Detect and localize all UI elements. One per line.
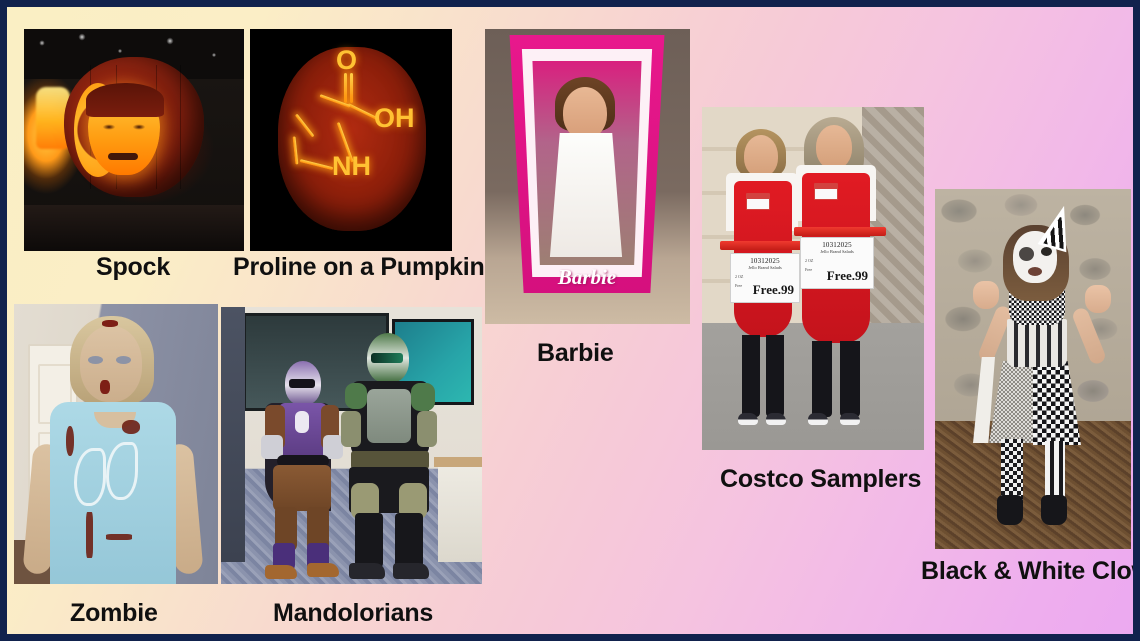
price-sign-left: 10312025 Jello Brand Salads 2 OZ Free Fr…	[730, 253, 800, 303]
sign-subtitle: Jello Brand Salads	[801, 249, 873, 254]
photo-card-clown[interactable]: Black & White Clown	[7, 7, 203, 367]
blood-stain	[122, 420, 140, 434]
sign-line1: 2 OZ	[735, 274, 799, 279]
caption-barbie: Barbie	[537, 339, 614, 368]
molecule-label-o: O	[336, 45, 357, 76]
hand-right	[1085, 285, 1111, 313]
desk	[438, 457, 482, 562]
blood-drip	[86, 512, 93, 558]
striped-corset	[1007, 319, 1067, 367]
slide-canvas: Spock O OH NH Proline on a Pum	[0, 0, 1140, 641]
seahorse-print-left	[74, 448, 106, 506]
boot-right	[1041, 495, 1067, 525]
leg-striped-tights	[1045, 441, 1065, 503]
caption-proline: Proline on a Pumpkin	[233, 253, 485, 282]
hand-left	[973, 281, 999, 309]
proline-pumpkin-photo[interactable]: O OH NH	[250, 29, 452, 251]
sign-price: Free.99	[827, 268, 868, 284]
desk-top	[434, 457, 482, 467]
face	[563, 87, 607, 139]
barbie-logo-text: Barbie	[535, 265, 639, 290]
blood-drip	[106, 534, 132, 540]
eye-patch	[1019, 247, 1034, 261]
black-white-clown-photo[interactable]	[935, 189, 1131, 549]
sign-price: Free.99	[753, 282, 794, 298]
barbie-box-photo[interactable]: Barbie	[485, 29, 690, 324]
caption-zombie: Zombie	[70, 599, 158, 628]
molecule-label-nh: NH	[332, 151, 371, 182]
costco-samplers-photo[interactable]: 10312025 Jello Brand Salads 2 OZ Free Fr…	[702, 107, 924, 450]
price-sign-right: 10312025 Jello Brand Salads 2 OZ Free Fr…	[800, 237, 874, 289]
pillar	[221, 307, 245, 562]
caption-mandolorians: Mandolorians	[273, 599, 433, 628]
sign-subtitle: Jello Brand Salads	[731, 265, 799, 270]
seahorse-print-right	[106, 442, 138, 500]
sign-date: 10312025	[731, 257, 799, 265]
name-badge	[746, 193, 770, 210]
mandolorians-photo[interactable]	[221, 307, 482, 584]
caption-clown: Black & White Clown	[921, 557, 1140, 586]
boot-left	[997, 495, 1023, 525]
blood-stain	[66, 426, 74, 456]
caption-costco: Costco Samplers	[720, 465, 921, 494]
sample-tray	[794, 227, 886, 236]
molecule-label-oh: OH	[374, 103, 415, 134]
leg-diamond-tights	[1001, 439, 1023, 503]
sign-line1: 2 OZ	[805, 258, 873, 263]
name-badge	[814, 183, 838, 200]
painted-mouth	[1028, 267, 1042, 276]
eye-right	[1041, 247, 1052, 256]
sign-date: 10312025	[801, 241, 873, 249]
chin-wound	[100, 380, 110, 394]
blue-tshirt	[50, 402, 176, 584]
pumpkin-shape: O OH NH	[278, 47, 426, 231]
sample-tray	[720, 241, 802, 250]
